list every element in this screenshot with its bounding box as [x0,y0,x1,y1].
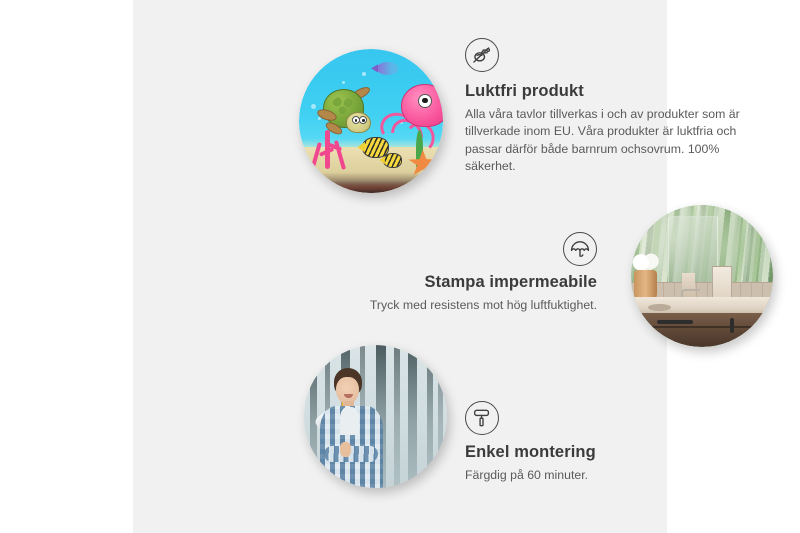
octopus-head [401,84,443,128]
paint-roller-icon [465,401,499,435]
person-arm [324,446,379,462]
feature-description: Alla våra tavlor tillverkas i och av pro… [465,106,750,176]
sea-turtle-icon [319,86,382,135]
bathroom-illustration [631,205,773,347]
drawer-handle [657,320,694,324]
screenshot-root: Luktfri produkt Alla våra tavlor tillver… [0,0,800,533]
underwater-illustration [299,49,443,193]
no-odour-glyph [471,44,493,66]
photo-painter-scene [304,345,447,488]
vanity-cabinet [631,313,773,347]
feature-title: Enkel montering [465,442,715,463]
octopus-eye [418,94,432,109]
turtle-eye [359,116,367,124]
feature-title: Stampa impermeabile [325,272,597,293]
feature-odour-free: Luktfri produkt Alla våra tavlor tillver… [465,38,750,175]
photo-underwater-scene [299,49,443,193]
person-hand [340,442,351,457]
feature-description: Färgdig på 60 minuter. [465,467,715,484]
feature-description: Tryck med resistens mot hög luftfuktighe… [325,297,597,314]
person-inner-top [340,407,358,435]
paint-roller-glyph [471,407,493,429]
photo-bathroom-scene [631,205,773,347]
feature-waterproof: Stampa impermeabile Tryck med resistens … [325,232,597,314]
painter-person [315,368,398,488]
feature-easy-mounting: Enkel montering Färgdig på 60 minuter. [465,401,715,484]
octopus-icon [385,84,443,147]
no-odour-icon [465,38,499,72]
blue-fish-icon [377,62,399,75]
feature-title: Luktfri produkt [465,81,750,102]
painter-illustration [304,345,447,488]
umbrella-icon [563,232,597,266]
coral-icon [309,130,352,176]
cabinet-seam [631,326,773,328]
content-panel: Luktfri produkt Alla våra tavlor tillver… [133,0,667,533]
door-handle [730,318,734,334]
yellow-fish-icon [383,153,402,168]
umbrella-glyph [569,238,591,260]
